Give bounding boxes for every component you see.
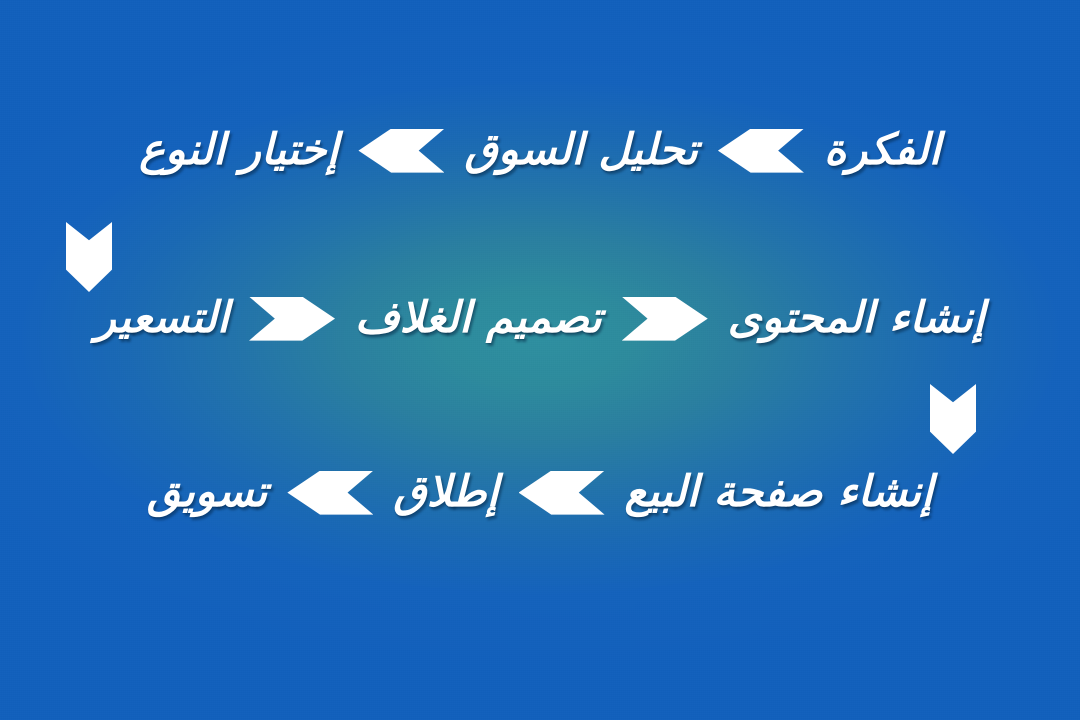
background-texture (0, 0, 1080, 720)
flow-row-2: التسعير تصميم الغلاف إنشاء المحتوى (0, 296, 1080, 341)
chevron-right-icon (249, 297, 335, 341)
flow-step-marketing[interactable]: تسويق (143, 470, 271, 515)
chevron-left-icon (718, 129, 804, 173)
flow-step-idea[interactable]: الفكرة (820, 128, 945, 173)
chevron-left-icon (358, 129, 444, 173)
flow-step-create-content[interactable]: إنشاء المحتوى (724, 296, 989, 341)
chevron-right-icon (622, 297, 708, 341)
flow-step-create-sales-page[interactable]: إنشاء صفحة البيع (621, 470, 938, 515)
flow-step-launch[interactable]: إطلاق (389, 470, 502, 515)
flow-step-cover-design[interactable]: تصميم الغلاف (351, 296, 606, 341)
chevron-down-icon (66, 222, 112, 292)
chevron-left-icon (519, 471, 605, 515)
chevron-down-icon (930, 384, 976, 454)
flowchart-canvas: الفكرة تحليل السوق إختيار النوع التسعير … (0, 0, 1080, 720)
flow-step-pricing[interactable]: التسعير (91, 296, 233, 341)
chevron-left-icon (287, 471, 373, 515)
flow-step-market-analysis[interactable]: تحليل السوق (460, 128, 701, 173)
flow-step-choose-type[interactable]: إختيار النوع (135, 128, 342, 173)
flow-row-1: الفكرة تحليل السوق إختيار النوع (0, 128, 1080, 173)
flow-row-3: إنشاء صفحة البيع إطلاق تسويق (0, 470, 1080, 515)
